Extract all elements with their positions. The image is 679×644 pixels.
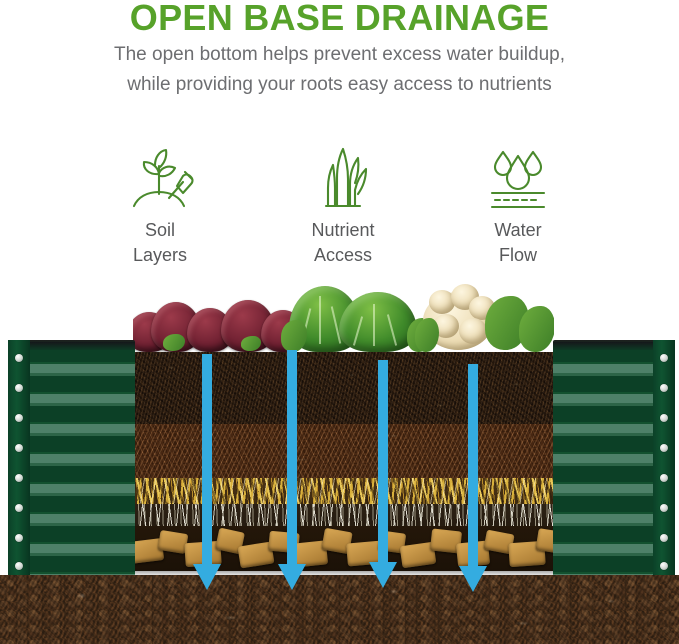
corner-post-left (8, 340, 30, 575)
screw-icon (660, 414, 668, 422)
screw-icon (660, 384, 668, 392)
feature-label: Nutrient Access (248, 218, 438, 268)
topsoil-layer (133, 352, 554, 424)
cauliflower-leaf (519, 306, 554, 352)
plant-layer (133, 278, 554, 352)
screw-icon (15, 562, 23, 570)
corner-post-right (653, 340, 675, 575)
screw-icon (15, 504, 23, 512)
screw-icon (15, 444, 23, 452)
bed-panel-right (553, 340, 679, 575)
wood-chunk (535, 528, 554, 554)
feature-water-flow: Water Flow (423, 140, 613, 268)
feature-label-line-1: Soil (65, 218, 255, 243)
screw-icon (15, 474, 23, 482)
subtitle-line-1: The open bottom helps prevent excess wat… (0, 40, 679, 70)
screw-icon (660, 444, 668, 452)
native-ground-layer (0, 575, 679, 644)
screw-icon (660, 562, 668, 570)
screw-icon (15, 414, 23, 422)
feature-label-line-1: Water (423, 218, 613, 243)
feature-label-line-2: Layers (65, 243, 255, 268)
subtitle-line-2: while providing your roots easy access t… (0, 70, 679, 100)
soil-plant-trowel-icon (65, 140, 255, 218)
feature-label: Soil Layers (65, 218, 255, 268)
raised-bed-illustration (0, 278, 679, 644)
soil-cross-section (133, 278, 554, 578)
screw-icon (15, 354, 23, 362)
cauliflower-leaf (415, 318, 439, 352)
feature-label-line-1: Nutrient (248, 218, 438, 243)
compost-layer (133, 424, 554, 478)
screw-icon (660, 474, 668, 482)
bed-panel-left (0, 340, 135, 575)
grass-blades-icon (248, 140, 438, 218)
feature-soil-layers: Soil Layers (65, 140, 255, 268)
screw-icon (660, 534, 668, 542)
water-droplets-icon (423, 140, 613, 218)
infographic-page: OPEN BASE DRAINAGE The open bottom helps… (0, 0, 679, 644)
corrugated-panel-body (553, 350, 655, 575)
screw-icon (660, 504, 668, 512)
feature-label: Water Flow (423, 218, 613, 268)
corrugated-panel-body (22, 350, 135, 575)
screw-icon (660, 354, 668, 362)
feature-list: Soil Layers Nutrient Access (0, 140, 679, 270)
screw-icon (15, 384, 23, 392)
screw-icon (15, 534, 23, 542)
page-title: OPEN BASE DRAINAGE (0, 0, 679, 40)
page-subtitle: The open bottom helps prevent excess wat… (0, 40, 679, 100)
feature-label-line-2: Flow (423, 243, 613, 268)
cauliflower-floret (459, 318, 487, 344)
feature-label-line-2: Access (248, 243, 438, 268)
feature-nutrient-access: Nutrient Access (248, 140, 438, 268)
